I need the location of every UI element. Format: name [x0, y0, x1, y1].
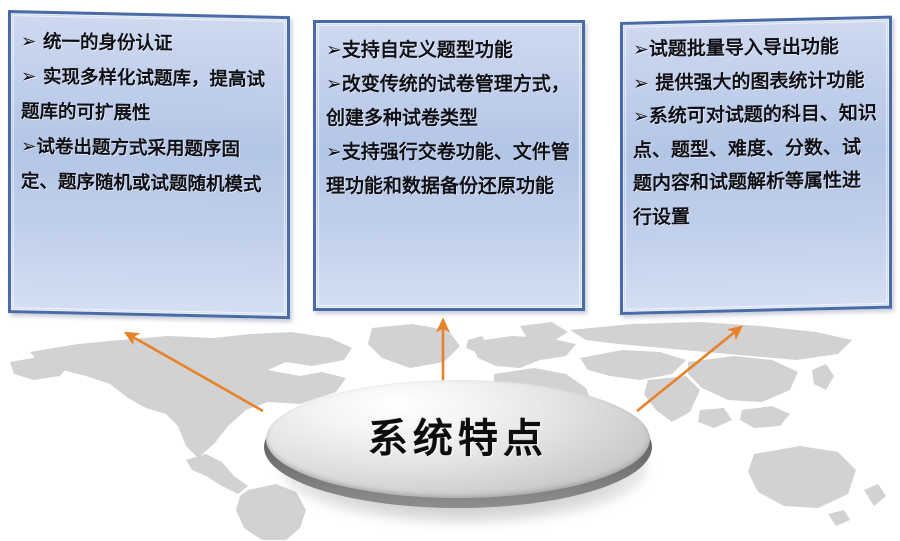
list-item-text: 试题批量导入导出功能 — [649, 36, 839, 61]
arrow-bullet-icon: ➢ — [326, 39, 342, 61]
arrow-bullet-icon: ➢ — [326, 141, 342, 163]
slide-canvas: ➢ 统一的身份认证 ➢ 实现多样化试题库，提高试题库的可扩展性 ➢试卷出题方式采… — [0, 0, 900, 541]
center-disc[interactable]: 系统特点 — [258, 372, 658, 532]
list-item: ➢ 统一的身份认证 — [21, 24, 275, 63]
list-item: ➢改变传统的试卷管理方式，创建多种试卷类型 — [326, 67, 570, 135]
list-item-text: 统一的身份认证 — [37, 31, 173, 54]
feature-box-3[interactable]: ➢试题批量导入导出功能 ➢ 提供强大的图表统计功能 ➢系统可对试题的科目、知识点… — [620, 16, 892, 315]
list-item-text: 提供强大的图表统计功能 — [649, 69, 865, 94]
feature-list-1: ➢ 统一的身份认证 ➢ 实现多样化试题库，提高试题库的可扩展性 ➢试卷出题方式采… — [21, 24, 275, 203]
feature-box-1[interactable]: ➢ 统一的身份认证 ➢ 实现多样化试题库，提高试题库的可扩展性 ➢试卷出题方式采… — [8, 10, 290, 319]
list-item: ➢支持自定义题型功能 — [326, 33, 570, 67]
feature-list-3: ➢试题批量导入导出功能 ➢ 提供强大的图表统计功能 ➢系统可对试题的科目、知识点… — [633, 30, 877, 235]
list-item: ➢试题批量导入导出功能 — [633, 30, 877, 67]
list-item-text: 支持自定义题型功能 — [342, 39, 513, 61]
list-item: ➢ 实现多样化试题库，提高试题库的可扩展性 — [21, 59, 275, 133]
arrow-bullet-icon: ➢ — [326, 73, 342, 95]
feature-box-2[interactable]: ➢支持自定义题型功能 ➢改变传统的试卷管理方式，创建多种试卷类型 ➢支持强行交卷… — [313, 20, 585, 311]
list-item-text: 实现多样化试题库，提高试题库的可扩展性 — [21, 66, 265, 124]
list-item-text: 试卷出题方式采用题序固定、题序随机或试题随机模式 — [21, 136, 262, 195]
arrow-bullet-icon: ➢ — [633, 72, 649, 94]
arrow-bullet-icon: ➢ — [21, 66, 37, 87]
feature-list-2: ➢支持自定义题型功能 ➢改变传统的试卷管理方式，创建多种试卷类型 ➢支持强行交卷… — [326, 33, 570, 203]
list-item: ➢系统可对试题的科目、知识点、题型、难度、分数、试题内容和试题解析等属性进行设置 — [633, 97, 877, 235]
disc-face: 系统特点 — [266, 380, 650, 498]
list-item-text: 系统可对试题的科目、知识点、题型、难度、分数、试题内容和试题解析等属性进行设置 — [633, 102, 877, 228]
arrow-bullet-icon: ➢ — [21, 31, 37, 52]
list-item-text: 支持强行交卷功能、文件管理功能和数据备份还原功能 — [326, 141, 570, 197]
list-item: ➢ 提供强大的图表统计功能 — [633, 64, 877, 101]
arrow-bullet-icon: ➢ — [633, 38, 649, 60]
list-item-text: 改变传统的试卷管理方式，创建多种试卷类型 — [326, 73, 570, 129]
arrow-bullet-icon: ➢ — [633, 105, 649, 127]
list-item: ➢支持强行交卷功能、文件管理功能和数据备份还原功能 — [326, 135, 570, 203]
arrow-bullet-icon: ➢ — [21, 136, 37, 157]
page-title: 系统特点 — [368, 406, 548, 464]
list-item: ➢试卷出题方式采用题序固定、题序随机或试题随机模式 — [21, 129, 275, 203]
